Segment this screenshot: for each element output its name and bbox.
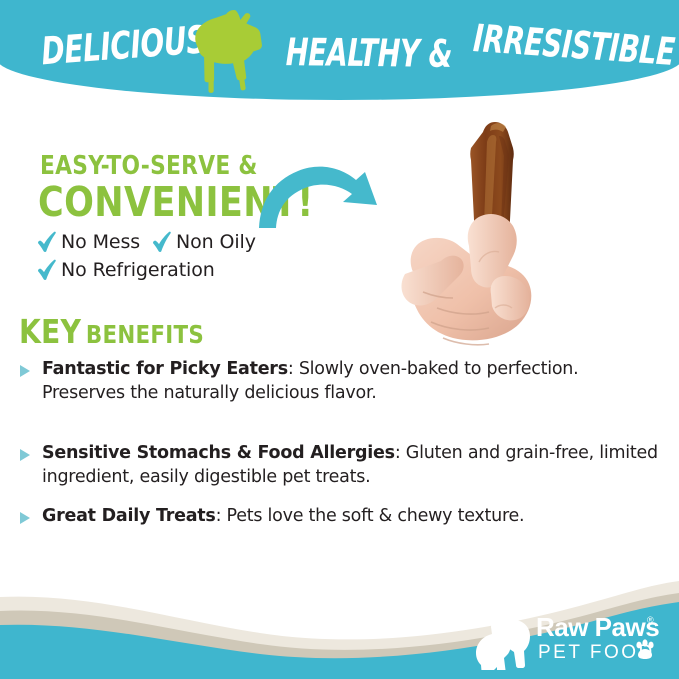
triangle-bullet-icon <box>19 364 31 378</box>
header-headline: Delicious, Healthy & Irresistible <box>0 0 679 100</box>
benefit-lead: Great Daily Treats <box>42 506 216 526</box>
logo-brand: Raw Paws <box>536 612 659 642</box>
benefit-text: Great Daily Treats: Pets love the soft &… <box>42 505 524 529</box>
product-infographic: Delicious, Healthy & Irresistible Easy-t… <box>0 0 679 679</box>
checkmark-icon <box>152 231 171 253</box>
benefit-body: : Pets love the soft & chewy texture. <box>216 506 525 526</box>
headline-word-irresistible: Irresistible <box>472 16 676 74</box>
feature-label: No Refrigeration <box>61 259 215 281</box>
curved-arrow-icon <box>257 161 389 229</box>
headline-word-healthy: Healthy & <box>286 30 453 76</box>
raw-paws-logo: Raw Paws ® PET FOOD <box>466 608 662 670</box>
benefit-list-item: Fantastic for Picky Eaters: Slowly oven-… <box>19 358 659 405</box>
benefit-lead: Fantastic for Picky Eaters <box>42 359 288 379</box>
key-benefits-heading-primary: Key <box>19 312 81 351</box>
dog-silhouette-icon <box>194 8 266 94</box>
key-benefits-heading: KeyBenefits <box>19 312 204 351</box>
feature-label: No Mess <box>61 231 140 253</box>
feature-no-mess: No Mess <box>37 231 140 253</box>
key-benefits-heading-secondary: Benefits <box>86 320 204 349</box>
product-photo-hand-holding-treat <box>383 112 619 360</box>
feature-no-refrigeration: No Refrigeration <box>37 259 215 281</box>
benefit-text: Sensitive Stomachs & Food Allergies: Glu… <box>42 442 664 489</box>
benefit-text: Fantastic for Picky Eaters: Slowly oven-… <box>42 358 659 405</box>
triangle-bullet-icon <box>19 511 31 525</box>
dog-and-cat-silhouette-icon <box>476 610 530 670</box>
triangle-bullet-icon <box>19 448 31 462</box>
convenience-heading-line1: Easy-to-Serve & <box>40 151 258 181</box>
feature-label: Non Oily <box>176 231 256 253</box>
header-banner: Delicious, Healthy & Irresistible <box>0 0 679 100</box>
headline-word-delicious: Delicious, <box>40 17 218 74</box>
checkmark-icon <box>37 259 56 281</box>
checkmark-icon <box>37 231 56 253</box>
benefit-list-item: Sensitive Stomachs & Food Allergies: Glu… <box>19 442 664 489</box>
benefit-list-item: Great Daily Treats: Pets love the soft &… <box>19 505 664 529</box>
benefit-lead: Sensitive Stomachs & Food Allergies <box>42 443 395 463</box>
logo-registered-mark: ® <box>647 615 654 625</box>
feature-non-oily: Non Oily <box>152 231 256 253</box>
